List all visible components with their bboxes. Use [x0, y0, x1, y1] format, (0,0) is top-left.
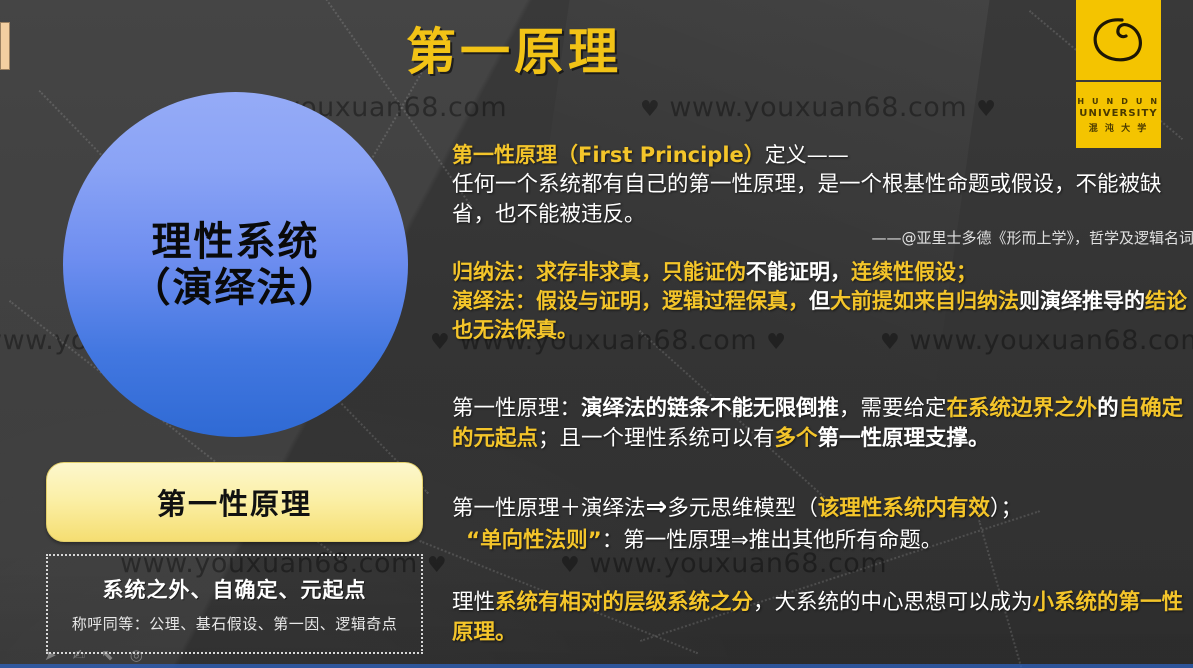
- mini-toolbar[interactable]: ➤ ✍ ⬉ ◎: [44, 646, 143, 664]
- chain-c: ，需要给定: [839, 396, 947, 421]
- hundun-university-logo: H U N D U N UNIVERSITY 混 沌 大 学: [1076, 0, 1161, 148]
- definition-lead: 第一性原理（First Principle）定义——: [452, 141, 1193, 170]
- law-rest: ：第一性原理⇒推出其他所有命题。: [602, 528, 943, 553]
- deduction-a: 演绎法：假设与证明，逻辑过程保真，: [452, 289, 809, 313]
- chain-e: 的: [1097, 396, 1119, 421]
- mental-models-line: 第一性原理＋演绎法⇒多元思维模型（该理性系统内有效）；: [452, 490, 1193, 526]
- chain-d: 在系统边界之外: [947, 396, 1098, 421]
- chain-i: 第一性原理支撑。: [818, 426, 990, 451]
- rational-system-circle: 理性系统 （演绎法）: [63, 92, 408, 437]
- attributes-synonyms: 称呼同等：公理、基石假设、第一因、逻辑奇点: [72, 613, 398, 634]
- induction-line: 归纳法：求存非求真，只能证伪不能证明，连续性假设；: [452, 258, 1193, 287]
- chain-limit-text: 第一性原理：演绎法的链条不能无限倒推，需要给定在系统边界之外的自确定的元起点；且…: [452, 394, 1193, 453]
- deduction-b: 但: [809, 289, 830, 313]
- induction-b: 只能证伪: [662, 260, 746, 284]
- logo-line-1: H U N D U N: [1077, 97, 1159, 106]
- paragraph-chain-limit: 第一性原理：演绎法的链条不能无限倒推，需要给定在系统边界之外的自确定的元起点；且…: [452, 394, 1193, 453]
- implies-arrow-icon: ⇒: [646, 492, 668, 522]
- cursor-icon[interactable]: ⬉: [101, 646, 114, 664]
- attributes-headline: 系统之外、自确定、元起点: [103, 574, 367, 604]
- chain-g: ；且一个理性系统可以有: [538, 426, 775, 451]
- hier-f: 。: [495, 620, 517, 645]
- pointer-icon[interactable]: ➤: [44, 646, 57, 664]
- first-principle-box-label: 第一性原理: [157, 481, 312, 523]
- chain-h: 多个: [775, 426, 818, 451]
- paragraph-hierarchy: 理性系统有相对的层级系统之分，大系统的中心思想可以成为小系统的第一性原理。: [452, 588, 1193, 647]
- bottom-accent-bar: [0, 664, 1193, 668]
- paragraph-definition: 第一性原理（First Principle）定义—— 任何一个系统都有自己的第一…: [452, 141, 1193, 248]
- law-name: “单向性法则”: [466, 528, 602, 553]
- first-principle-box: 第一性原理: [46, 462, 423, 542]
- deduction-line: 演绎法：假设与证明，逻辑过程保真，但大前提如来自归纳法则演绎推导的结论也无法保真…: [452, 287, 1193, 345]
- corner-chip: [0, 22, 10, 70]
- deduction-c: 大前提如来自归纳法: [830, 289, 1019, 313]
- unidirectional-law-line: “单向性法则”：第一性原理⇒推出其他所有命题。: [452, 526, 1193, 556]
- induction-c: 不能证明，: [746, 260, 851, 284]
- paragraph-mental-models: 第一性原理＋演绎法⇒多元思维模型（该理性系统内有效）； “单向性法则”：第一性原…: [452, 490, 1193, 556]
- deduction-d: 则演绎推导的: [1019, 289, 1145, 313]
- mm-a: 第一性原理＋演绎法: [452, 496, 646, 521]
- circle-label-line-2: （演绎法）: [131, 265, 341, 311]
- hier-b: 系统有相对的层级系统之分: [495, 590, 753, 615]
- page-title: 第一原理: [406, 12, 622, 84]
- hierarchy-text: 理性系统有相对的层级系统之分，大系统的中心思想可以成为小系统的第一性原理。: [452, 588, 1193, 647]
- mm-c: 该理性系统内有效: [818, 496, 990, 521]
- slide-canvas: ♥ www.youxuan68.com ♥ www.youxuan68.com …: [0, 0, 1193, 668]
- hundun-circle-mark-icon: [1076, 0, 1161, 80]
- logo-line-2: UNIVERSITY: [1079, 108, 1157, 119]
- mm-b: 多元思维模型（: [667, 496, 818, 521]
- paragraph-induction-deduction: 归纳法：求存非求真，只能证伪不能证明，连续性假设； 演绎法：假设与证明，逻辑过程…: [452, 258, 1193, 345]
- definition-term: 第一性原理（First Principle）: [452, 143, 765, 167]
- definition-lead-rest: 定义——: [765, 143, 849, 167]
- circle-label-line-1: 理性系统: [152, 219, 320, 265]
- chain-b: 演绎法的链条不能无限倒推: [581, 396, 839, 421]
- logo-wordmark: H U N D U N UNIVERSITY 混 沌 大 学: [1077, 82, 1159, 148]
- induction-d: 连续性假设；: [851, 260, 977, 284]
- chain-a: 第一性原理：: [452, 396, 581, 421]
- induction-a: 归纳法：求存非求真，: [452, 260, 662, 284]
- mm-d: ）；: [990, 496, 1022, 521]
- hier-a: 理性: [452, 590, 495, 615]
- definition-attribution: ——@亚里士多德《形而上学》，哲学及逻辑名词: [452, 227, 1193, 248]
- target-icon[interactable]: ◎: [130, 646, 143, 664]
- hier-d: 小系统的: [1033, 590, 1119, 615]
- first-principle-attributes-box: 系统之外、自确定、元起点 称呼同等：公理、基石假设、第一因、逻辑奇点: [46, 554, 423, 654]
- stamp-icon[interactable]: ✍: [73, 646, 86, 664]
- definition-body: 任何一个系统都有自己的第一性原理，是一个根基性命题或假设，不能被缺省，也不能被违…: [452, 170, 1193, 229]
- logo-line-3: 混 沌 大 学: [1089, 121, 1148, 134]
- hier-c: ，大系统的中心思想可以成为: [753, 590, 1033, 615]
